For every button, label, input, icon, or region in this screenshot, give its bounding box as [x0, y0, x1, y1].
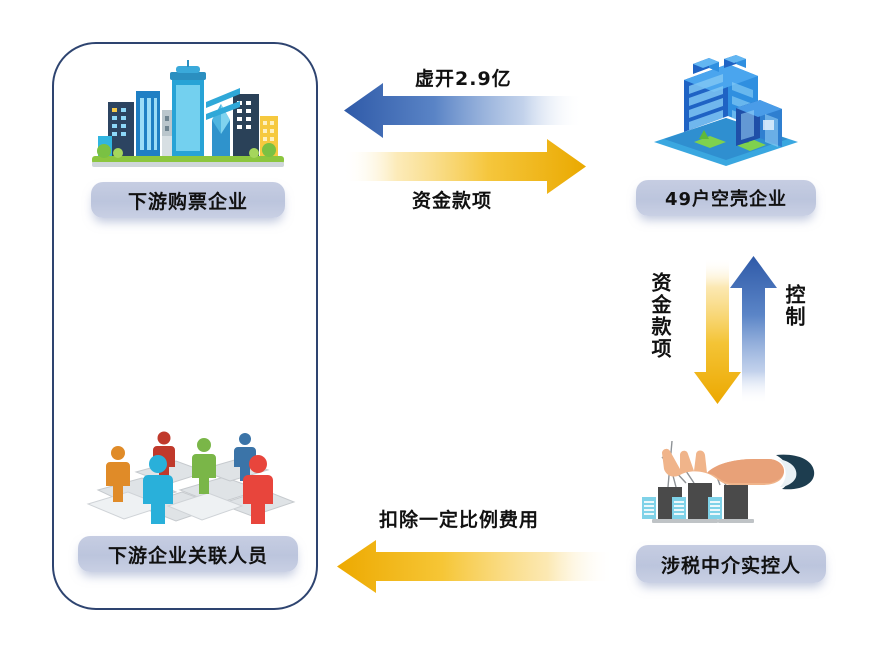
office-building-icon — [636, 50, 816, 168]
edge-label-funds-down: 资金款项 — [646, 272, 675, 360]
arrow-fee-deduction — [337, 540, 614, 593]
node-downstream-people[interactable]: 下游企业关联人员 — [78, 420, 298, 572]
arrow-funds-down — [694, 258, 741, 404]
edge-label-fake-invoice: 虚开2.9亿 — [415, 64, 512, 91]
diagram-canvas: 下游购票企业 — [0, 0, 894, 647]
arrow-fake-invoice — [344, 83, 583, 138]
node-downstream-buyer[interactable]: 下游购票企业 — [88, 58, 288, 218]
node-label-tax-agent: 涉税中介实控人 — [636, 545, 826, 583]
node-shell-companies[interactable]: 49户空壳企业 — [636, 50, 816, 216]
puppeteer-hand-icon — [636, 425, 826, 537]
city-skyline-icon — [88, 58, 288, 174]
edge-label-fee-deduction: 扣除一定比例费用 — [379, 505, 539, 532]
node-label-downstream-people: 下游企业关联人员 — [78, 536, 298, 572]
edge-label-control-up: 控制 — [780, 284, 809, 328]
node-label-shell-companies: 49户空壳企业 — [636, 180, 816, 216]
node-label-downstream-buyer: 下游购票企业 — [91, 182, 285, 218]
arrow-control-up — [730, 256, 777, 404]
node-tax-agent[interactable]: 涉税中介实控人 — [636, 425, 826, 583]
edge-label-funds-to-shell: 资金款项 — [412, 186, 492, 213]
people-network-icon — [80, 420, 296, 530]
